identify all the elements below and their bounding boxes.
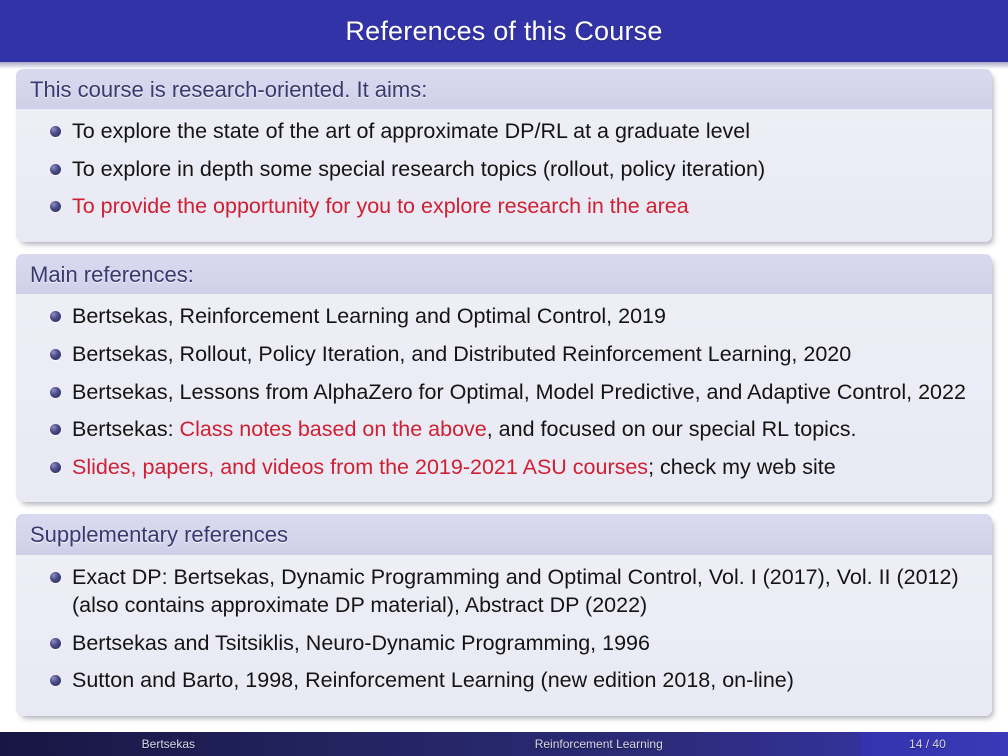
bullet-icon [50,462,61,473]
block-supplementary-references-title: Supplementary references [16,514,992,554]
list-item: Bertsekas, Reinforcement Learning and Op… [32,302,976,331]
block-supplementary-references-body: Exact DP: Bertsekas, Dynamic Programming… [16,555,992,716]
list-item: Bertsekas: Class notes based on the abov… [32,415,976,444]
list-item-text: To provide the opportunity for you to ex… [72,194,689,218]
bullet-icon [50,638,61,649]
block-aims-body: To explore the state of the art of appro… [16,109,992,242]
list-item-text: To explore the state of the art of appro… [72,119,750,143]
list-item-text-part: Bertsekas: [72,417,180,441]
list-item: Bertsekas, Rollout, Policy Iteration, an… [32,340,976,369]
block-main-references-list: Bertsekas, Reinforcement Learning and Op… [32,302,976,481]
bullet-icon [50,349,61,360]
slide-title-bar: References of this Course [0,0,1008,62]
page-title: References of this Course [345,18,662,45]
list-item: To provide the opportunity for you to ex… [32,192,976,221]
list-item: Sutton and Barto, 1998, Reinforcement Le… [32,666,976,695]
footer-page-number-label: 14 / 40 [909,737,946,751]
bullet-icon [50,164,61,175]
block-aims: This course is research-oriented. It aim… [16,69,992,242]
list-item-text: Bertsekas, Lessons from AlphaZero for Op… [72,380,966,404]
footer-author: Bertsekas [0,732,337,756]
list-item-text-highlight: Slides, papers, and videos from the 2019… [72,455,648,479]
block-supplementary-references-list: Exact DP: Bertsekas, Dynamic Programming… [32,563,976,695]
list-item-text: Bertsekas, Rollout, Policy Iteration, an… [72,342,851,366]
footer-subject: Reinforcement Learning [337,732,861,756]
list-item-text: To explore in depth some special researc… [72,157,765,181]
list-item-text: Sutton and Barto, 1998, Reinforcement Le… [72,668,794,692]
bullet-icon [50,126,61,137]
footer-author-label: Bertsekas [142,737,195,751]
list-item: Bertsekas, Lessons from AlphaZero for Op… [32,378,976,407]
bullet-icon [50,201,61,212]
list-item: Slides, papers, and videos from the 2019… [32,453,976,482]
list-item-text-part: , and focused on our special RL topics. [487,417,857,441]
slide: References of this Course This course is… [0,0,1008,756]
block-main-references-body: Bertsekas, Reinforcement Learning and Op… [16,294,992,502]
block-aims-title: This course is research-oriented. It aim… [16,69,992,109]
block-aims-list: To explore the state of the art of appro… [32,117,976,221]
bullet-icon [50,387,61,398]
block-main-references: Main references: Bertsekas, Reinforcemen… [16,254,992,502]
block-main-references-title: Main references: [16,254,992,294]
list-item: To explore in depth some special researc… [32,155,976,184]
bullet-icon [50,424,61,435]
slide-footer: Bertsekas Reinforcement Learning 14 / 40 [0,732,1008,756]
list-item-text: Bertsekas, Reinforcement Learning and Op… [72,304,666,328]
list-item: To explore the state of the art of appro… [32,117,976,146]
bullet-icon [50,675,61,686]
list-item: Bertsekas and Tsitsiklis, Neuro-Dynamic … [32,629,976,658]
list-item-text-part: ; check my web site [648,455,836,479]
footer-page-number: 14 / 40 [861,732,1008,756]
slide-content: This course is research-oriented. It aim… [0,69,1008,756]
list-item-text: Exact DP: Bertsekas, Dynamic Programming… [72,565,959,618]
bullet-icon [50,572,61,583]
title-bar-shadow [0,62,1008,69]
bullet-icon [50,311,61,322]
block-supplementary-references: Supplementary references Exact DP: Berts… [16,514,992,716]
list-item-text: Bertsekas and Tsitsiklis, Neuro-Dynamic … [72,631,650,655]
list-item: Exact DP: Bertsekas, Dynamic Programming… [32,563,976,620]
list-item-text-highlight: Class notes based on the above [180,417,487,441]
footer-subject-label: Reinforcement Learning [535,737,663,751]
